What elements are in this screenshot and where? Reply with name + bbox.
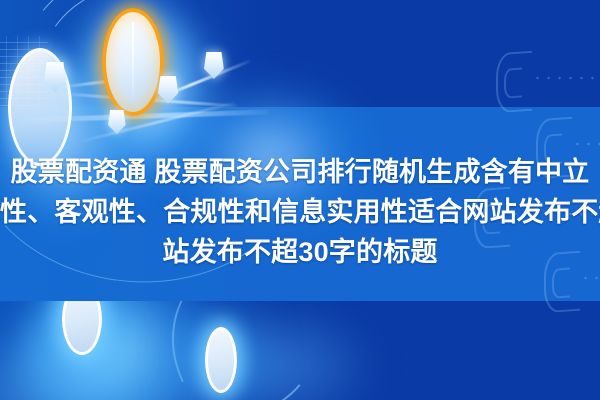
dotted-line — [580, 274, 600, 282]
banner-headline: 股票配资通 股票配资公司排行随机生成含有中立 性、客观性、合规性和信息实用性适合… — [0, 152, 600, 272]
headline-line-3: 站发布不超30字的标题 — [0, 232, 600, 272]
banner-image: 股票配资通 股票配资公司排行随机生成含有中立 性、客观性、合规性和信息实用性适合… — [0, 0, 600, 400]
headline-line-2: 性、客观性、合规性和信息实用性适合网站发布不超3 — [0, 192, 600, 232]
bracket-icon — [496, 51, 532, 114]
dotted-line — [572, 140, 600, 148]
glowing-oval-right — [205, 327, 237, 393]
bottom-glow-graphic — [0, 301, 600, 400]
headline-line-1: 股票配资通 股票配资公司排行随机生成含有中立 — [0, 152, 600, 192]
dotted-bracket-motif-1 — [496, 52, 532, 112]
bottom-arc-4 — [140, 301, 433, 400]
dotted-line — [532, 74, 600, 82]
orange-ring-ellipse — [102, 8, 164, 116]
